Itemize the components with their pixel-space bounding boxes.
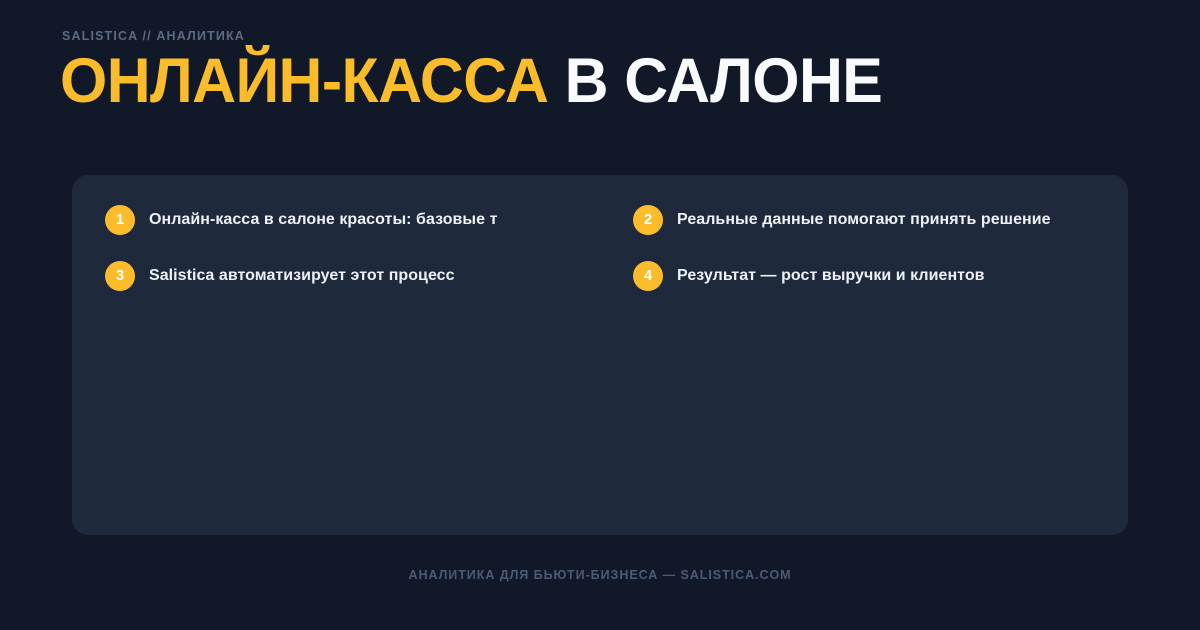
poster-header: SALISTICA // АНАЛИТИКА ОНЛАЙН-КАССА В СА… (60, 30, 1140, 113)
points-grid: 1 Онлайн-касса в салоне красоты: базовые… (105, 205, 1094, 291)
list-item: 2 Реальные данные помогают принять решен… (633, 205, 1161, 235)
point-label-2: Реальные данные помогают принять решение (677, 210, 1051, 230)
page-title-rest: В САЛОНЕ (565, 46, 883, 116)
list-item: 4 Результат — рост выручки и клиентов (633, 261, 1161, 291)
point-label-3: Salistica автоматизирует этот процесс (149, 266, 455, 286)
point-label-4: Результат — рост выручки и клиентов (677, 266, 985, 286)
page-title: ОНЛАЙН-КАССА В САЛОНЕ (60, 49, 1102, 113)
point-badge-4: 4 (633, 261, 663, 291)
point-label-1: Онлайн-касса в салоне красоты: базовые т (149, 210, 497, 230)
point-badge-3: 3 (105, 261, 135, 291)
points-card: 1 Онлайн-касса в салоне красоты: базовые… (72, 175, 1128, 535)
list-item: 3 Salistica автоматизирует этот процесс (105, 261, 633, 291)
point-badge-1: 1 (105, 205, 135, 235)
list-item: 1 Онлайн-касса в салоне красоты: базовые… (105, 205, 633, 235)
brand-kicker: SALISTICA // АНАЛИТИКА (62, 30, 1140, 43)
page-title-accent: ОНЛАЙН-КАССА (60, 46, 548, 116)
page-title-space (548, 46, 564, 116)
poster-canvas: SALISTICA // АНАЛИТИКА ОНЛАЙН-КАССА В СА… (0, 0, 1200, 630)
footer-tagline: АНАЛИТИКА ДЛЯ БЬЮТИ-БИЗНЕСА — SALISTICA.… (0, 569, 1200, 582)
point-badge-2: 2 (633, 205, 663, 235)
